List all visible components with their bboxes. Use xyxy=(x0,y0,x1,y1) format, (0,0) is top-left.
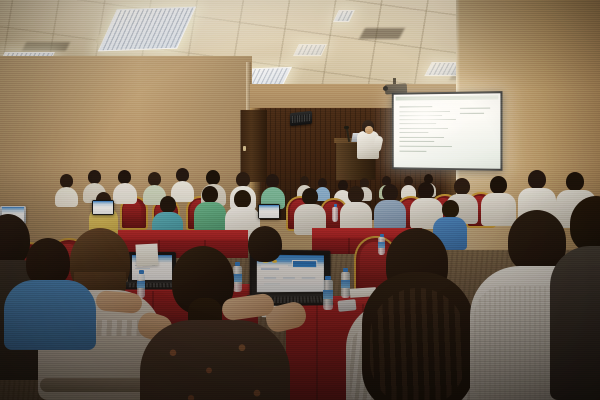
slide-text-line xyxy=(399,106,432,108)
slide-text-line xyxy=(399,115,442,116)
slide-text-line xyxy=(399,141,434,142)
door-handle-icon[interactable] xyxy=(243,146,246,151)
presenter-face xyxy=(365,126,373,134)
slide-text-line xyxy=(460,113,484,114)
slide-text-line xyxy=(399,128,448,129)
slide-text-line xyxy=(460,108,490,109)
slide-header-bar xyxy=(396,95,499,100)
microphone-icon xyxy=(344,126,349,129)
projection-screen xyxy=(394,93,501,169)
slide-text-line xyxy=(399,151,426,152)
slide-text-line xyxy=(399,123,436,124)
projector-lens-icon xyxy=(383,86,388,91)
ceiling-vent xyxy=(22,42,70,51)
slide-text-line xyxy=(399,146,452,147)
conference-room-photo: Photograph taken from the back of a beig… xyxy=(0,0,600,400)
slide-text-line xyxy=(399,119,455,120)
slide-text-line xyxy=(399,132,428,133)
ceiling-light-panel xyxy=(293,44,327,56)
crowd-shadow-gradient xyxy=(0,168,600,400)
slide-text-line xyxy=(399,137,444,138)
slide-text-line xyxy=(399,111,450,112)
ceiling-vent xyxy=(359,28,405,39)
